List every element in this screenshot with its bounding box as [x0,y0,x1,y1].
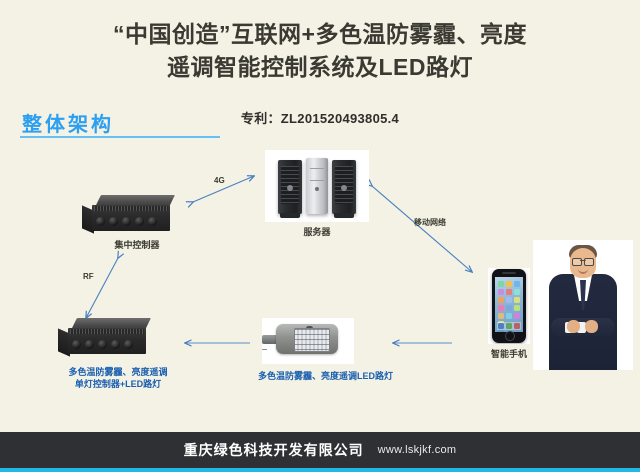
controller-box-icon [68,318,158,358]
footer-accent-rule [0,468,640,472]
arrow-label-mobile-network: 移动网络 [414,217,446,228]
node-centralized-controller[interactable]: 集中控制器 [82,195,192,255]
footer-url[interactable]: www.lskjkf.com [378,444,457,456]
arrow-label-4g: 4G [214,176,225,185]
arrow-label-rf: RF [83,272,94,281]
node-label-street-lamp: 多色温防雾霾、亮度遥调LED路灯 [258,370,388,382]
node-label-smartphone: 智能手机 [480,348,538,360]
node-smartphone[interactable]: 智能手机 [480,268,538,376]
node-label-server: 服务器 [265,226,369,238]
arrow-rf [86,258,118,318]
arrow-mobile-network [372,186,472,272]
node-street-lamp[interactable]: 多色温防雾霾、亮度遥调LED路灯 [258,318,388,396]
street-lamp-icon [262,318,354,364]
node-single-lamp-controller[interactable]: 多色温防雾霾、亮度遥调 单灯控制器+LED路灯 [38,318,198,396]
server-rack-icon [265,150,369,222]
node-label-centralized-controller: 集中控制器 [82,239,192,251]
presentation-slide: “中国创造”互联网+多色温防雾霾、亮度 遥调智能控制系统及LED路灯 专利：ZL… [0,0,640,472]
node-server[interactable]: 服务器 [265,150,369,240]
smartphone-icon [488,268,530,344]
node-label-single-lamp-line2: 单灯控制器+LED路灯 [38,378,198,390]
node-label-single-lamp-line1: 多色温防雾霾、亮度遥调 [38,366,198,378]
footer-bar: 重庆绿色科技开发有限公司 www.lskjkf.com [0,432,640,472]
businessman-photo [533,240,633,370]
footer-company: 重庆绿色科技开发有限公司 [184,440,364,460]
controller-box-icon [92,195,182,235]
